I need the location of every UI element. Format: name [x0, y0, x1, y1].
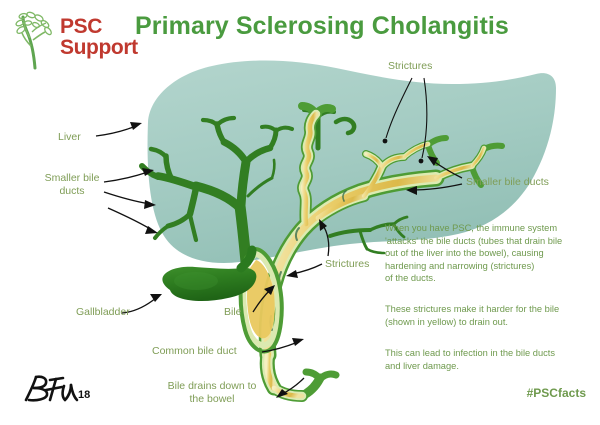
tree-logo-icon — [14, 10, 60, 70]
logo-line-2: Support — [60, 37, 138, 58]
psc-infographic-poster: PSC Support Primary Sclerosing Cholangit… — [0, 0, 600, 425]
body-paragraph-3: This can lead to infection in the bile d… — [385, 347, 595, 372]
label-strictures-middle: Strictures — [325, 258, 369, 271]
label-bile: Bile — [224, 306, 242, 319]
body-paragraph-2: These strictures make it harder for the … — [385, 303, 595, 328]
hashtag-pscfacts: #PSCfacts — [527, 386, 586, 400]
page-title: Primary Sclerosing Cholangitis — [135, 12, 535, 41]
logo-line-1: PSC — [60, 16, 138, 37]
label-smaller-bile-ducts-left: Smaller bile ducts — [36, 172, 108, 197]
psc-support-logo[interactable]: PSC Support — [14, 10, 142, 72]
label-strictures-top: Strictures — [388, 60, 432, 73]
body-paragraph-1: When you have PSC, the immune system 'at… — [385, 222, 595, 285]
artist-signature: 18 — [22, 372, 92, 404]
label-bile-drains-to-bowel: Bile drains down to the bowel — [150, 380, 274, 405]
label-smaller-bile-ducts-right: Smaller bile ducts — [466, 176, 549, 189]
label-liver: Liver — [58, 131, 81, 144]
logo-wordmark: PSC Support — [60, 16, 138, 58]
label-gallbladder: Gallbladder — [76, 306, 130, 319]
svg-text:18: 18 — [78, 389, 90, 401]
label-common-bile-duct: Common bile duct — [152, 345, 237, 358]
